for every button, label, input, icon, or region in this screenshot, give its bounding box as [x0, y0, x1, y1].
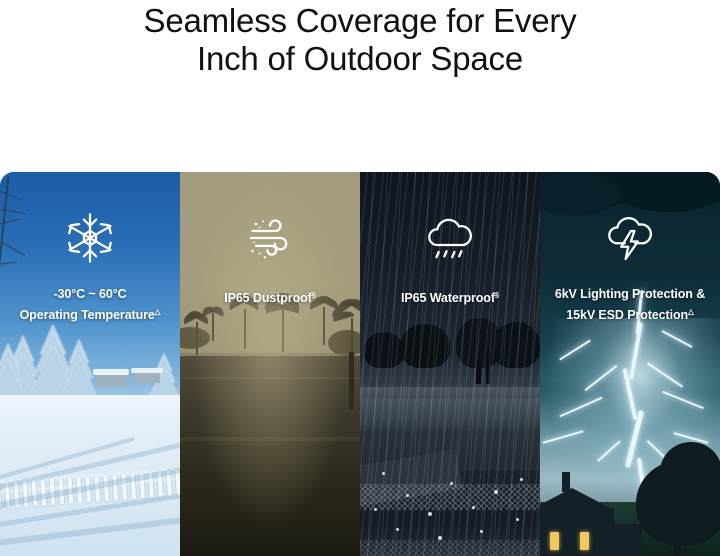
- page-title: Seamless Coverage for Every Inch of Outd…: [0, 0, 720, 78]
- dusty-desert-road-scene: [180, 172, 360, 556]
- feature-panel-lighting-esd-protection[interactable]: 6kV Lighting Protection & 15kV ESD Prote…: [540, 172, 720, 556]
- marketing-feature-page: Seamless Coverage for Every Inch of Outd…: [0, 0, 720, 556]
- feature-panel-dustproof[interactable]: IP65 Dustproof§: [180, 172, 360, 556]
- winter-snow-scene: [0, 172, 180, 556]
- heavy-rain-scene: [360, 172, 540, 556]
- feature-panel-waterproof[interactable]: IP65 Waterproof§: [360, 172, 540, 556]
- page-title-line-1: Seamless Coverage for Every: [0, 2, 720, 40]
- feature-panel-operating-temperature[interactable]: -30°C ~ 60°C Operating Temperature△: [0, 172, 180, 556]
- lightning-storm-scene: [540, 172, 720, 556]
- page-title-line-2: Inch of Outdoor Space: [0, 40, 720, 78]
- feature-panel-strip: -30°C ~ 60°C Operating Temperature△: [0, 172, 720, 556]
